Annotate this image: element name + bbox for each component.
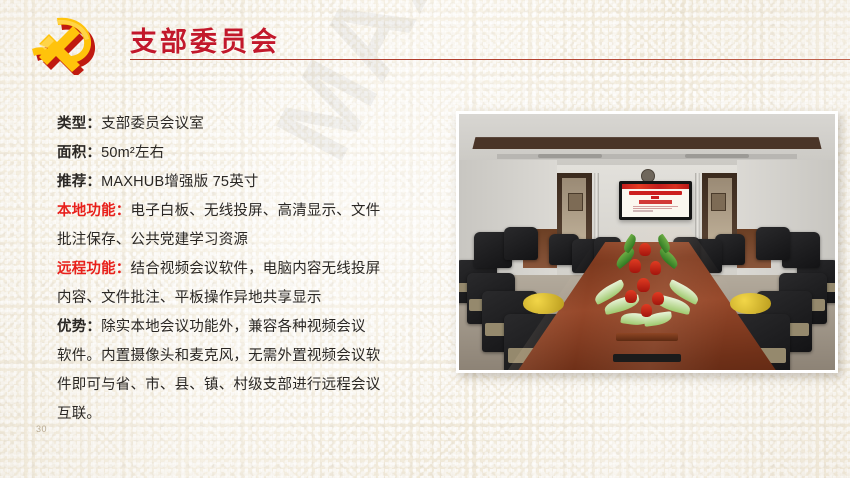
ceiling-wood-band — [473, 137, 822, 148]
spec-value: 内容、文件批注、平板操作异地共享显示 — [57, 290, 322, 306]
spec-value: 电子白板、无线投屏、高清显示、文件 — [131, 203, 381, 219]
photo-canvas — [459, 114, 835, 370]
spec-value: 件即可与省、市、县、镇、村级支部进行远程会议 — [57, 377, 380, 393]
screen-red-tag — [651, 196, 659, 199]
leaf — [621, 234, 639, 254]
red-flower — [639, 243, 651, 256]
spec-label-remote-features: 远程功能： — [57, 261, 131, 277]
title-underline-rule — [130, 59, 850, 60]
wall-picture-right — [711, 193, 726, 211]
spec-text-block: 类型：支部委员会议室 面积：50m²左右 推荐：MAXHUB增强版 75英寸 本… — [57, 110, 397, 429]
screen-top-bar — [622, 184, 689, 189]
spec-line: 面积：50m²左右 — [57, 139, 397, 168]
red-flower — [650, 261, 662, 274]
spec-value: 除实本地会议功能外，兼容各种视频会议 — [101, 319, 366, 335]
spec-line: 类型：支部委员会议室 — [57, 110, 397, 139]
spec-line: 推荐：MAXHUB增强版 75英寸 — [57, 168, 397, 197]
red-flower — [629, 259, 641, 272]
spec-line: 批注保存、公共党建学习资源 — [57, 226, 397, 255]
microphone — [613, 354, 681, 362]
red-flower — [652, 292, 664, 305]
ceiling-light-left — [538, 154, 602, 158]
display-screen-content — [622, 184, 689, 218]
spec-label: 面积： — [57, 145, 101, 161]
chair — [504, 227, 538, 260]
chair — [756, 227, 790, 260]
red-flower — [637, 278, 650, 292]
conference-room-photo — [456, 111, 838, 373]
leaf — [655, 234, 673, 254]
spec-line: 互联。 — [57, 400, 397, 429]
page-title: 支部委员会 — [130, 20, 280, 59]
spec-line: 件即可与省、市、县、镇、村级支部进行远程会议 — [57, 371, 397, 400]
red-flower — [625, 290, 637, 303]
fruit-plate-right — [730, 293, 771, 313]
slide-root: MAXHUB — [0, 0, 850, 478]
screen-text-line — [633, 206, 679, 207]
spec-value: MAXHUB增强版 75英寸 — [101, 174, 259, 190]
spec-value: 支部委员会议室 — [101, 116, 204, 132]
spec-label: 推荐： — [57, 174, 101, 190]
spec-value: 软件。内置摄像头和麦克风，无需外置视频会议软 — [57, 348, 380, 364]
screen-text-line — [633, 208, 672, 209]
spec-value: 结合视频会议软件，电脑内容无线投屏 — [131, 261, 381, 277]
red-flower — [641, 304, 653, 316]
spec-line: 远程功能：结合视频会议软件，电脑内容无线投屏 — [57, 255, 397, 284]
spec-value: 批注保存、公共党建学习资源 — [57, 232, 248, 248]
screen-headline — [639, 200, 671, 204]
spec-label-local-features: 本地功能： — [57, 203, 131, 219]
screen-red-banner — [629, 191, 683, 195]
flower-tray — [616, 333, 677, 341]
flower-centerpiece — [583, 237, 711, 339]
spec-line: 软件。内置摄像头和麦克风，无需外置视频会议软 — [57, 342, 397, 371]
spec-value: 50m²左右 — [101, 145, 164, 161]
screen-text-line — [633, 210, 653, 211]
ceiling-light-right — [685, 154, 749, 158]
slide-header: 支部委员会 — [0, 0, 850, 72]
spec-line: 本地功能：电子白板、无线投屏、高清显示、文件 — [57, 197, 397, 226]
wall-picture-left — [568, 193, 583, 211]
spec-value: 互联。 — [57, 406, 101, 422]
spec-line: 优势：除实本地会议功能外，兼容各种视频会议 — [57, 313, 397, 342]
spec-line: 内容、文件批注、平板操作异地共享显示 — [57, 284, 397, 313]
cpc-hammer-sickle-emblem-icon — [24, 13, 108, 75]
page-number: 30 — [36, 424, 47, 434]
fruit-plate-left — [523, 293, 564, 313]
display-screen — [619, 181, 692, 221]
spec-label: 类型： — [57, 116, 101, 132]
spec-label-advantages: 优势： — [57, 319, 101, 335]
